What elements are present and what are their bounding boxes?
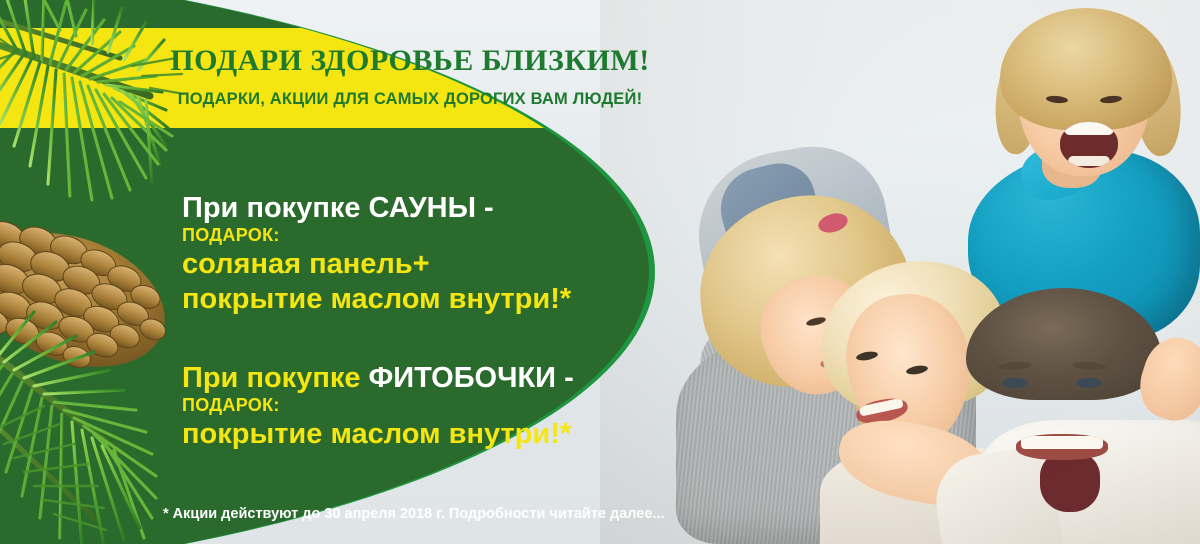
man-eye-right xyxy=(1076,378,1102,388)
page-title: ПОДАРИ ЗДОРОВЬЕ БЛИЗКИМ! xyxy=(160,44,660,78)
man-teeth xyxy=(1021,436,1103,449)
offer-gift-line: покрытие маслом внутри!* xyxy=(182,282,571,317)
promo-footnote: * Акции действуют до 30 апреля 2018 г. П… xyxy=(163,506,665,522)
offer-gift-label: ПОДАРОК: xyxy=(182,394,574,417)
offer-intro: При покупке ФИТОБОЧКИ - xyxy=(182,362,574,394)
offer-gift-line: покрытие маслом внутри!* xyxy=(182,417,574,452)
offer-block-sauna: При покупке САУНЫ - ПОДАРОК: соляная пан… xyxy=(182,192,571,318)
yellow-banner-strip xyxy=(0,28,649,128)
offer-intro-yellow: При покупке xyxy=(182,362,369,394)
offer-intro-white: ФИТОБОЧКИ - xyxy=(369,362,574,394)
boy-teeth-lower xyxy=(1068,156,1110,166)
boy-mouth xyxy=(1060,122,1118,168)
page-subtitle: ПОДАРКИ, АКЦИИ ДЛЯ САМЫХ ДОРОГИХ ВАМ ЛЮД… xyxy=(160,90,660,109)
offer-gift-label: ПОДАРОК: xyxy=(182,224,571,247)
offer-block-phytobarrel: При покупке ФИТОБОЧКИ - ПОДАРОК: покрыти… xyxy=(182,362,574,452)
man-eye-left xyxy=(1002,378,1028,388)
promo-banner: ПОДАРИ ЗДОРОВЬЕ БЛИЗКИМ! ПОДАРКИ, АКЦИИ … xyxy=(0,0,1200,544)
offer-intro: При покупке САУНЫ - xyxy=(182,192,571,224)
boy-teeth-upper xyxy=(1064,122,1114,135)
man-mouth xyxy=(1016,434,1108,460)
offer-intro-white: При покупке САУНЫ - xyxy=(182,192,494,224)
offer-gift-line: соляная панель+ xyxy=(182,247,571,282)
